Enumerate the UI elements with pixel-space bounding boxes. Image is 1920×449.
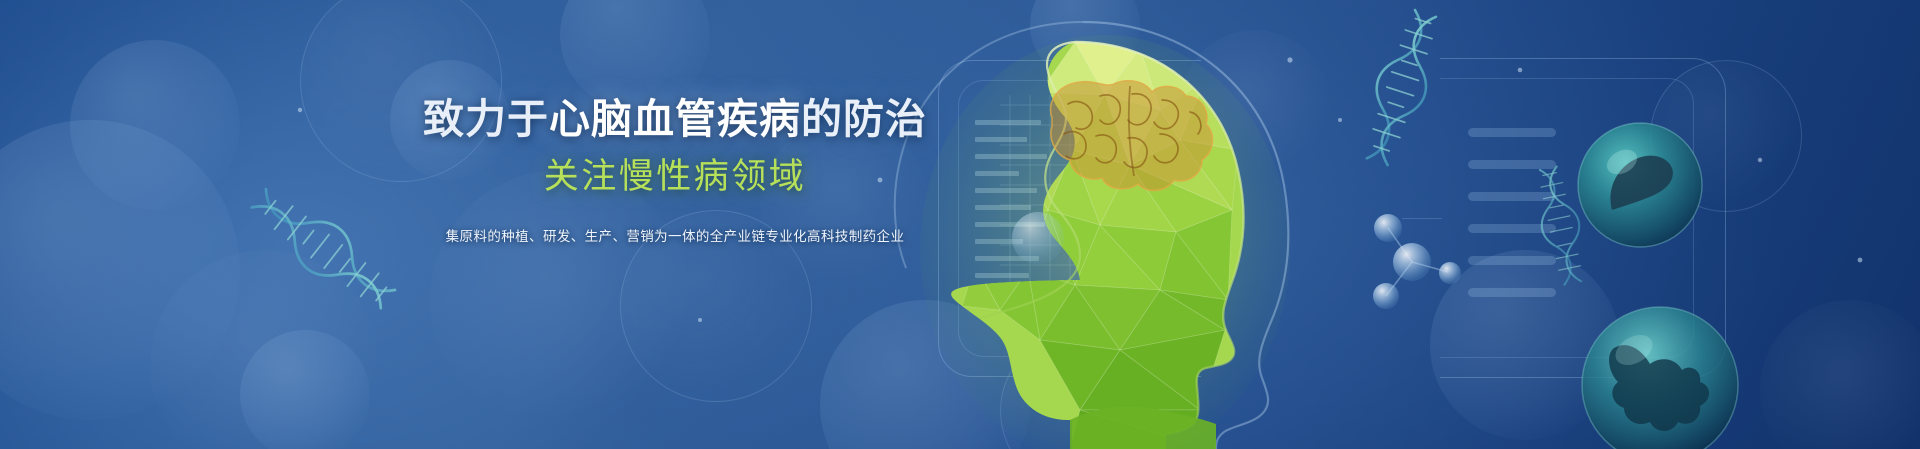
bokeh-circle [240, 330, 370, 449]
bokeh-circle [1430, 250, 1620, 440]
hero-copy: 致力于心脑血管疾病的防治 关注慢性病领域 集原料的种植、研发、生产、营销为一体的… [355, 96, 995, 245]
dna-helix-top-right [1354, 6, 1449, 170]
hud-connector [1200, 218, 1238, 219]
bokeh-circle [1000, 330, 1162, 449]
hud-bar [1468, 192, 1556, 201]
hud-bar [1468, 288, 1556, 297]
hud-grid-left [1000, 95, 1190, 345]
dna-helix-right-edge [1530, 164, 1591, 287]
head-outline [1075, 42, 1244, 434]
brain-illustration [1051, 81, 1213, 191]
head-face-profile [980, 42, 1080, 318]
subheadline: 关注慢性病领域 [355, 157, 995, 198]
bokeh-circle [1180, 30, 1330, 180]
hud-connector [1402, 218, 1442, 219]
page-title: 致力于心脑血管疾病的防治 [355, 96, 995, 144]
headline-highlight: 心脑血管疾病 [549, 96, 801, 142]
hud-bar [1468, 224, 1556, 233]
cell-blob-lower-right [1582, 307, 1738, 449]
hud-bar [1468, 128, 1556, 137]
hud-frame-right [1440, 58, 1726, 378]
molecule-node [1012, 212, 1064, 264]
hud-tick [975, 290, 1043, 295]
bokeh-circle [1760, 300, 1920, 449]
hero-banner: 致力于心脑血管疾病的防治 关注慢性病领域 集原料的种植、研发、生产、营销为一体的… [0, 0, 1920, 449]
head-halo-outline [1083, 22, 1288, 449]
bokeh-circle [1030, 0, 1140, 80]
cell-blob-upper-right [1578, 123, 1702, 247]
neck-shape [1070, 407, 1216, 449]
bokeh-circle [0, 120, 240, 420]
hud-tick [975, 256, 1039, 261]
bokeh-circle [1650, 60, 1802, 212]
headline-lead: 致力于 [423, 96, 549, 142]
bokeh-circle [820, 300, 1030, 449]
hud-tick [975, 273, 1029, 278]
bokeh-circle [70, 40, 240, 210]
hud-frame-right-inner [1440, 78, 1694, 358]
molecule-node-cluster [1373, 214, 1461, 309]
hud-bar [1468, 256, 1556, 265]
bokeh-circle [560, 0, 710, 110]
headline-tail: 的防治 [801, 96, 927, 142]
bokeh-circle [150, 250, 380, 449]
hud-bar [1468, 160, 1556, 169]
description-text: 集原料的种植、研发、生产、营销为一体的全产业链专业化高科技制药企业 [355, 225, 995, 245]
